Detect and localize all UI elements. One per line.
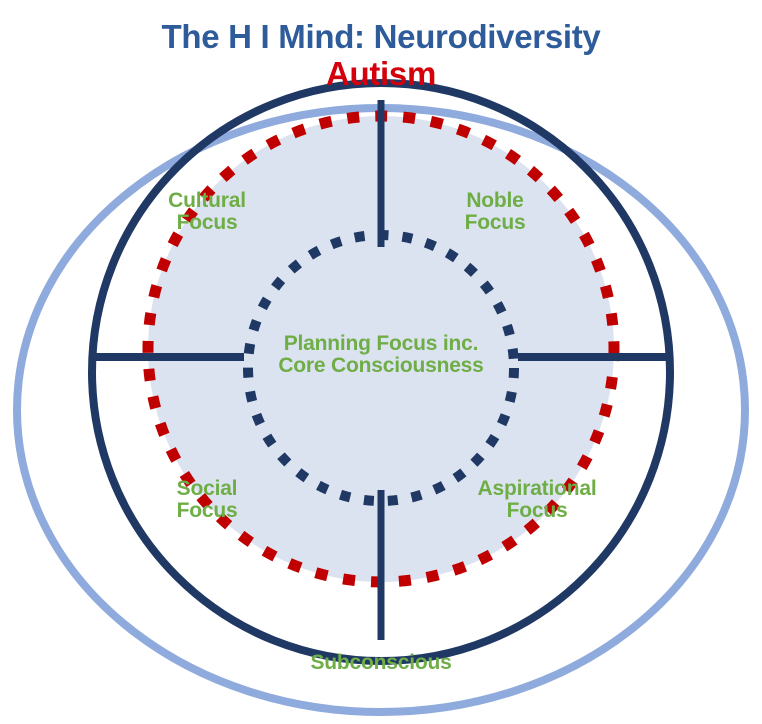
page-title: The H I Mind: Neurodiversity xyxy=(0,20,762,54)
outer-label-subconscious: Subconscious xyxy=(231,652,531,674)
quadrant-label-aspirational: Aspirational Focus xyxy=(452,478,622,522)
quadrant-label-cultural: Cultural Focus xyxy=(122,190,292,234)
quadrant-label-social: Social Focus xyxy=(122,478,292,522)
page-subtitle: Autism xyxy=(0,57,762,91)
diagram-canvas: The H I Mind: Neurodiversity Autism Cult… xyxy=(0,0,762,724)
quadrant-label-noble: Noble Focus xyxy=(410,190,580,234)
center-label-planning-focus: Planning Focus inc. Core Consciousness xyxy=(231,333,531,377)
